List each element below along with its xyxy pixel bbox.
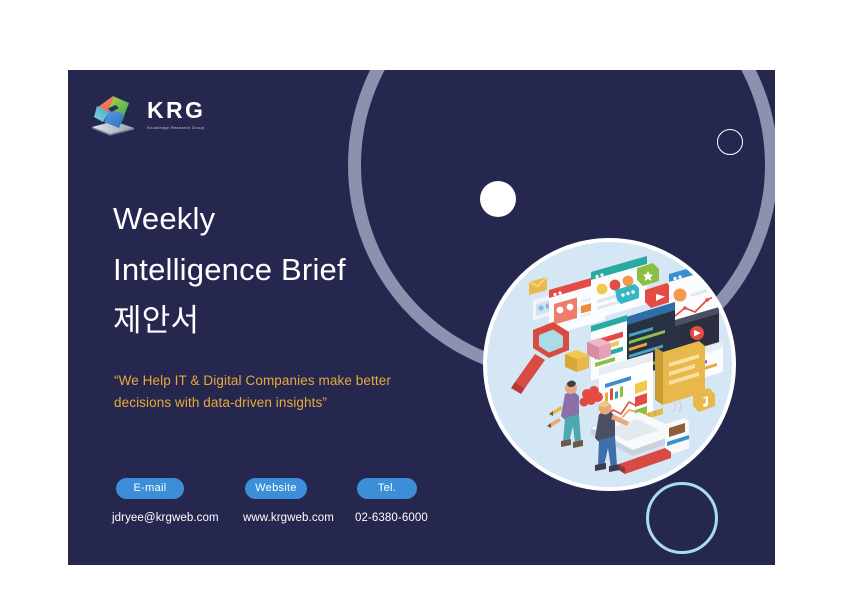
headline-line-1: Weekly <box>113 193 473 244</box>
white-filled-dot-decoration <box>480 181 516 217</box>
teal-outline-ring-decoration <box>646 482 718 554</box>
krg-logo: KRG Knowledge Research Group <box>88 92 205 136</box>
isometric-digital-content-analytics-illustration-icon <box>487 242 732 487</box>
contact-badge-email[interactable]: E-mail <box>116 478 184 499</box>
presentation-slide: KRG Knowledge Research Group Weekly Inte… <box>68 70 775 565</box>
contact-value-email[interactable]: jdryee@krgweb.com <box>112 512 219 524</box>
contact-badge-tel[interactable]: Tel. <box>357 478 417 499</box>
headline: Weekly Intelligence Brief 제안서 <box>113 193 473 346</box>
contact-value-website[interactable]: www.krgweb.com <box>243 512 334 524</box>
contact-badge-website[interactable]: Website <box>245 478 307 499</box>
headline-line-2: Intelligence Brief <box>113 244 473 295</box>
krg-pinwheel-laptop-logo-icon <box>88 92 138 136</box>
contact-email: E-mail jdryee@krgweb.com <box>112 478 243 524</box>
illustration-circle <box>483 238 736 491</box>
headline-line-3: 제안서 <box>113 295 473 346</box>
slide-canvas: KRG Knowledge Research Group Weekly Inte… <box>0 0 848 613</box>
white-outline-ring-decoration <box>717 129 743 155</box>
logo-subtitle: Knowledge Research Group <box>147 125 205 130</box>
contact-value-tel[interactable]: 02-6380-6000 <box>355 512 428 524</box>
logo-text: KRG Knowledge Research Group <box>147 98 205 130</box>
contact-row: E-mail jdryee@krgweb.com Website www.krg… <box>112 478 455 524</box>
tagline-text: “We Help IT & Digital Companies make bet… <box>114 370 432 414</box>
contact-tel: Tel. 02-6380-6000 <box>355 478 455 524</box>
contact-website: Website www.krgweb.com <box>243 478 355 524</box>
logo-title: KRG <box>147 99 205 122</box>
